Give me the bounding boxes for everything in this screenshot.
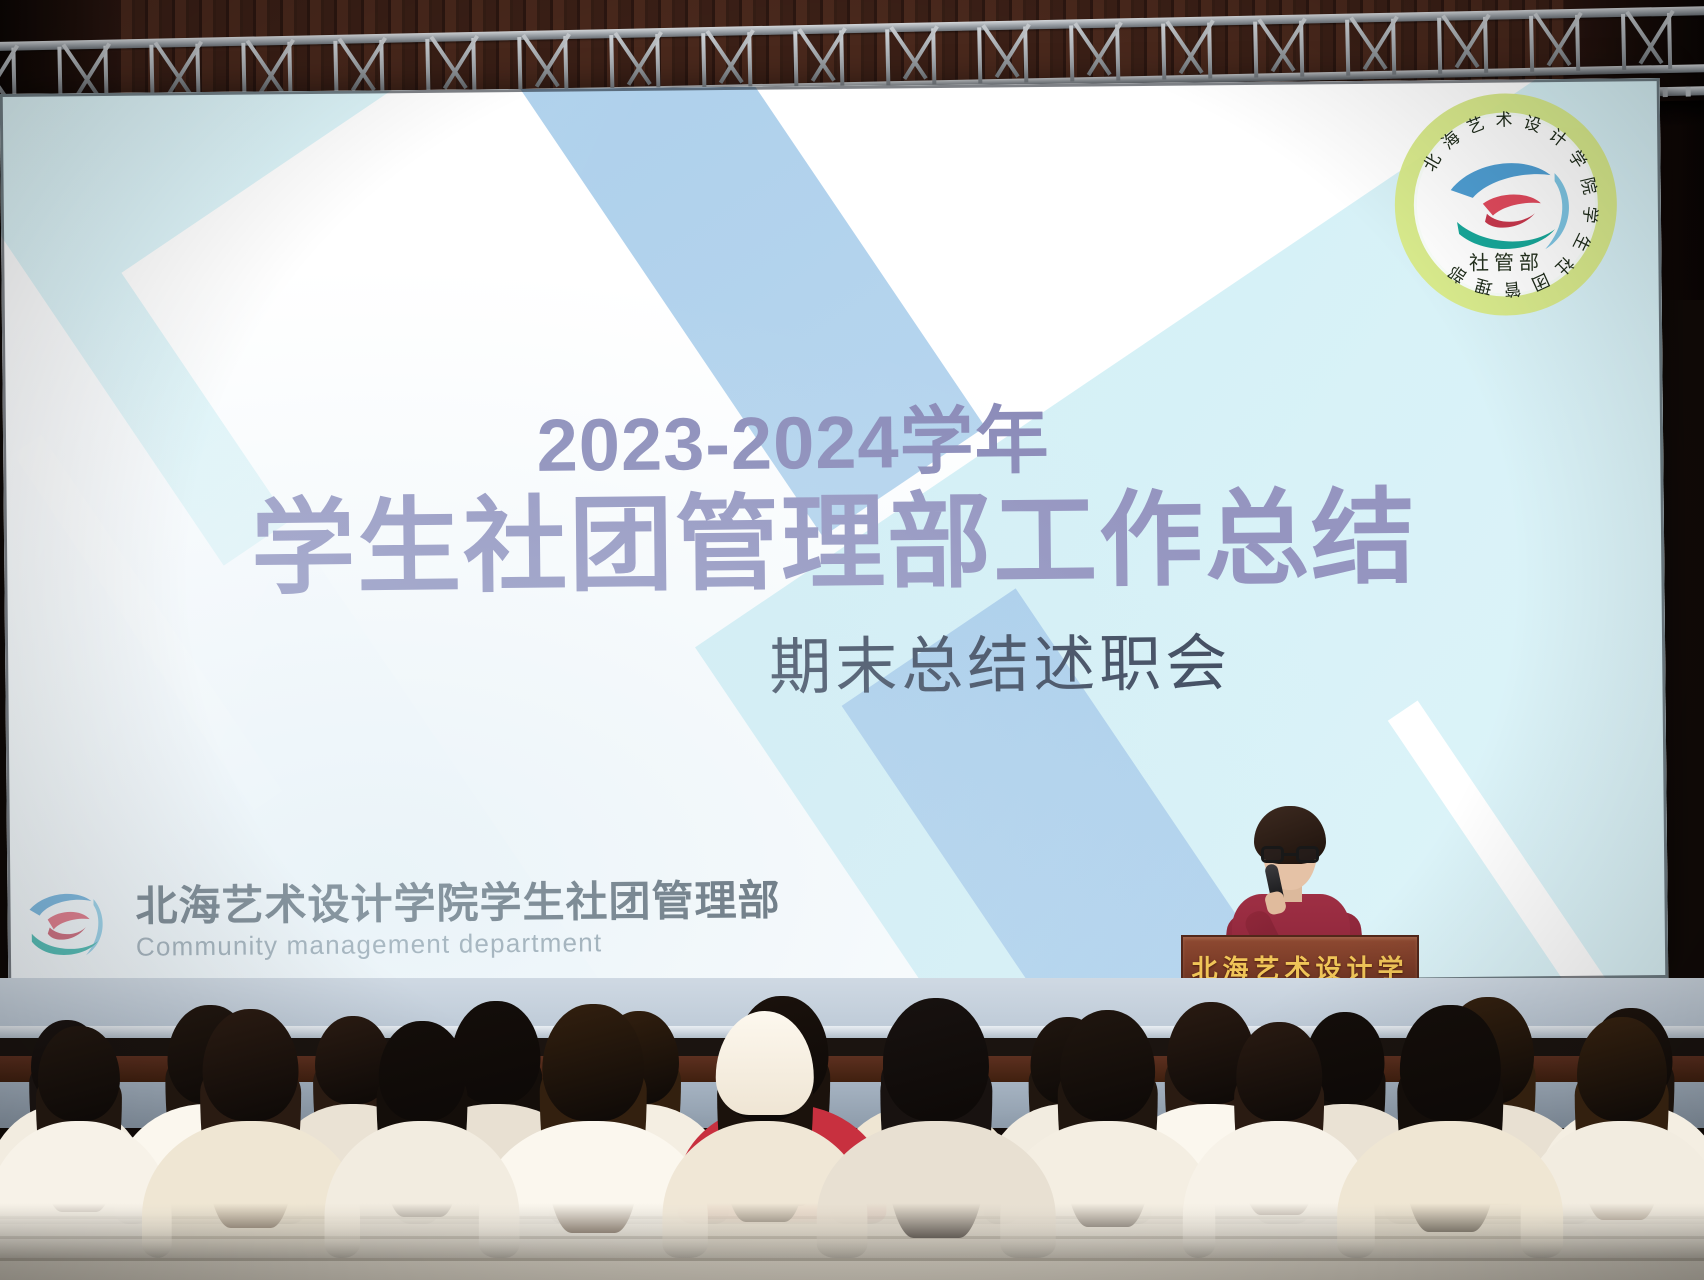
rail-line-3 [0,1258,1704,1261]
truss-vertical-member [425,39,430,95]
truss-vertical-member [517,37,522,93]
truss-vertical-member [609,35,614,91]
truss-vertical-member [333,41,338,97]
audience-member-shoulders [325,1121,520,1258]
scene-root: 北海艺术设计学院学生社团管理部 社管部 2023-2024学年 学生社团管理部工… [0,0,1704,1280]
brand-name-en: Community management department [136,926,781,963]
truss-vertical-member [1161,23,1166,79]
truss-vertical-member [793,31,798,87]
brand-lockup: 北海艺术设计学院学生社团管理部 Community management dep… [19,869,781,972]
truss-vertical-member [241,43,246,99]
audience-area [0,980,1704,1280]
brand-swirl-icon [19,875,116,972]
truss-vertical-member [885,29,890,85]
truss-rung [1663,87,1668,97]
ring-emblem-center-label: 社管部 [1395,245,1617,276]
audience-member-shoulders [1338,1121,1564,1258]
audience-member-head [379,1021,466,1122]
audience-member-head [1400,1005,1500,1121]
ring-emblem-swirl-icon [1394,92,1618,316]
audience-member-beanie-hat [716,1011,814,1115]
ring-emblem-logo: 北海艺术设计学院学生社团管理部 社管部 [1394,92,1618,316]
truss-vertical-member [1253,22,1258,78]
audience-member [1338,1005,1564,1258]
projection-screen: 北海艺术设计学院学生社团管理部 社管部 2023-2024学年 学生社团管理部工… [0,78,1668,994]
truss-vertical-member [977,27,982,83]
speaker-eyeglasses-icon [1261,846,1319,863]
eyeglass-bridge [1284,853,1296,856]
audience-member-shoulders [817,1121,1056,1258]
audience-member [325,1021,520,1258]
truss-vertical-member [1437,18,1442,74]
audience-member-head [883,998,989,1121]
truss-rung [1686,87,1691,97]
truss-vertical-member [1345,20,1350,76]
truss-vertical-member [701,33,706,89]
truss-vertical-member [1069,25,1074,81]
audience-member-head [1060,1010,1156,1121]
truss-vertical-member [1529,16,1534,72]
audience-member-head [1577,1017,1667,1121]
audience-member-head [1236,1022,1322,1121]
truss-vertical-member [1621,14,1626,70]
slide-surface: 北海艺术设计学院学生社团管理部 社管部 2023-2024学年 学生社团管理部工… [0,78,1668,994]
eyeglass-lens-right [1296,846,1319,863]
audience-member-head [202,1009,299,1121]
audience-member [817,998,1056,1258]
audience-member-head [543,1004,644,1122]
eyeglass-lens-left [1261,846,1284,863]
brand-name-cn: 北海艺术设计学院学生社团管理部 [135,877,780,930]
audience-member-head [38,1026,120,1121]
brand-text-block: 北海艺术设计学院学生社团管理部 Community management dep… [135,877,781,963]
